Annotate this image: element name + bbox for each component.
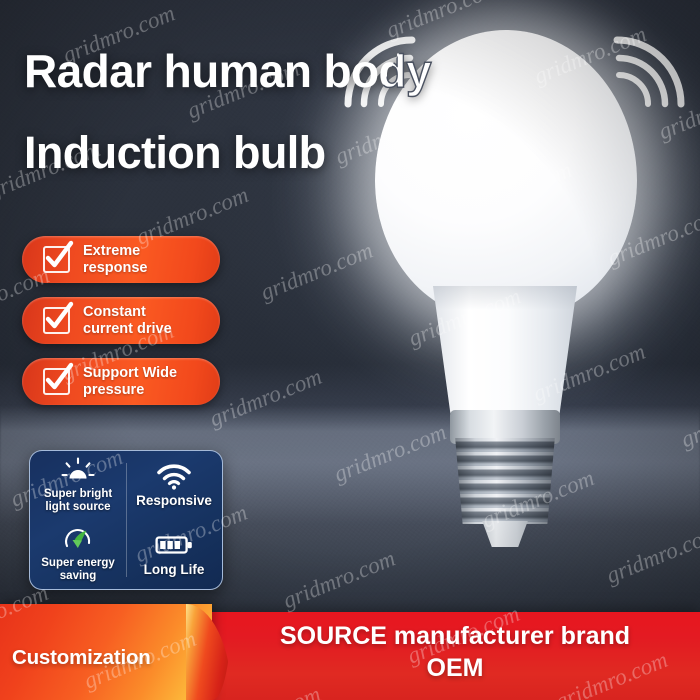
spec-label-line2: saving bbox=[60, 570, 96, 582]
checkbox-check-icon bbox=[43, 307, 70, 334]
banner-line-1: SOURCE manufacturer brand bbox=[280, 622, 630, 650]
spec-label-line1: Super energy bbox=[41, 557, 115, 569]
headline: Radar human body Induction bulb bbox=[24, 48, 684, 175]
battery-full-icon bbox=[155, 531, 193, 559]
spec-label: Responsive bbox=[136, 493, 212, 508]
feature-pill-label-line1: Support Wide bbox=[83, 365, 177, 381]
feature-pill-label-line2: response bbox=[83, 260, 147, 276]
feature-pill-label-line2: current drive bbox=[83, 321, 172, 337]
headline-line-2: Induction bulb bbox=[24, 130, 684, 175]
spec-cell-super-bright: Super bright light source bbox=[30, 451, 126, 520]
feature-pill-label: Support Wide pressure bbox=[83, 365, 177, 397]
banner-main-text: SOURCE manufacturer brand OEM bbox=[218, 621, 692, 684]
spec-feature-card: Super bright light source Responsive bbox=[29, 450, 223, 590]
green-leaf-check-icon bbox=[61, 526, 95, 554]
feature-pill-label-line2: pressure bbox=[83, 382, 144, 398]
banner-line-2: OEM bbox=[427, 654, 484, 682]
feature-pill-label-line1: Constant bbox=[83, 304, 146, 320]
feature-pill-wide-pressure: Support Wide pressure bbox=[22, 358, 220, 405]
spec-label: Long Life bbox=[144, 562, 205, 577]
feature-pill-label: Constant current drive bbox=[83, 304, 172, 336]
product-marketing-poster: Radar human body Induction bulb Radar hu… bbox=[0, 0, 700, 700]
spec-label-line1: Super bright bbox=[44, 488, 112, 500]
spec-label: Super energy saving bbox=[41, 557, 115, 583]
wifi-signal-icon bbox=[156, 462, 192, 490]
feature-pill-label: Extreme response bbox=[83, 243, 147, 275]
spec-cell-long-life: Long Life bbox=[126, 520, 222, 589]
customization-ribbon: Customization bbox=[0, 604, 212, 700]
sun-icon bbox=[61, 457, 95, 485]
feature-pill-label-line1: Extreme bbox=[83, 243, 140, 259]
spec-label-line2: light source bbox=[45, 501, 110, 513]
checkbox-check-icon bbox=[43, 368, 70, 395]
ribbon-label: Customization bbox=[12, 646, 192, 670]
spec-cell-responsive: Responsive bbox=[126, 451, 222, 520]
spec-label: Super bright light source bbox=[44, 488, 112, 514]
checkbox-check-icon bbox=[43, 246, 70, 273]
feature-pill-extreme-response: Extreme response bbox=[22, 236, 220, 283]
spec-cell-energy-saving: Super energy saving bbox=[30, 520, 126, 589]
feature-pill-constant-current: Constant current drive bbox=[22, 297, 220, 344]
headline-line-1: Radar human body bbox=[24, 48, 684, 94]
